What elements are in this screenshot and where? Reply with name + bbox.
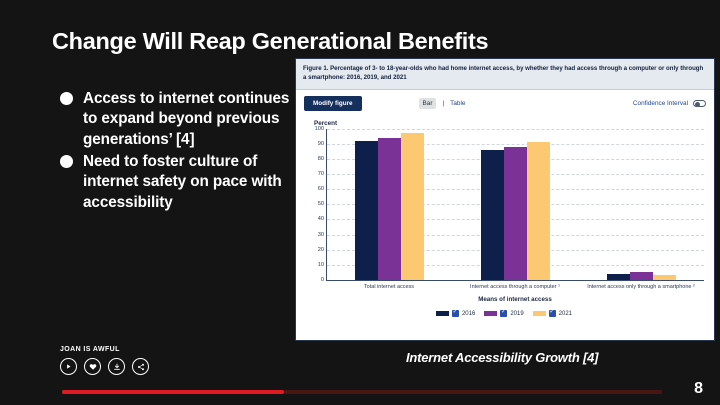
chart-bar[interactable] [401,133,424,279]
brand-name: JOAN IS AWFUL [60,346,149,353]
view-toggle: Bar | Table [419,98,466,109]
x-axis-label: Means of internet access [326,296,704,303]
bullet-dot-icon [60,155,73,168]
bar-groups [327,129,704,280]
y-axis-tick: 80 [318,156,324,162]
legend-label: 2021 [559,311,572,317]
chart-bar[interactable] [607,274,630,280]
list-item: Access to internet continues to expand b… [60,89,292,150]
y-axis-tick: 30 [318,232,324,238]
y-axis-tick: 100 [315,126,324,132]
chart-bar[interactable] [481,150,504,280]
y-axis-tick: 60 [318,186,324,192]
chart-bar[interactable] [653,275,676,280]
progress-bar-fill [62,390,284,394]
legend-item[interactable]: 2016 [436,310,475,317]
legend-label: 2019 [510,311,523,317]
plot-area: 1009080706050403020100 [326,129,704,281]
bullet-text: Access to internet continues to expand b… [83,89,292,150]
y-axis-tick: 90 [318,141,324,147]
bullet-dot-icon [60,92,73,105]
y-axis-tick: 20 [318,247,324,253]
toggle-switch-icon[interactable] [693,100,706,108]
y-axis-tick: 0 [321,277,324,283]
confidence-interval-label: Confidence Interval [633,100,688,107]
bar-group [453,129,579,280]
page-number: 8 [694,380,703,398]
share-icon[interactable] [132,358,149,375]
y-axis-label: Percent [314,120,704,127]
progress-bar-track[interactable] [62,390,662,394]
brand-block: JOAN IS AWFUL [60,346,149,375]
list-item: Need to foster culture of internet safet… [60,152,292,213]
y-axis-tick: 40 [318,216,324,222]
download-icon[interactable] [108,358,125,375]
legend-item[interactable]: 2019 [484,310,523,317]
y-axis-tick: 50 [318,201,324,207]
bullet-text: Need to foster culture of internet safet… [83,152,292,213]
view-separator: | [442,100,444,107]
x-axis-tick: Total internet access [326,284,452,291]
bar-group [327,129,453,280]
figure-toolbar: Modify figure Bar | Table Confidence Int… [296,90,714,116]
bar-group [578,129,704,280]
chart-bar[interactable] [630,272,653,280]
slide-root: Change Will Reap Generational Benefits A… [0,0,720,405]
tab-table-view[interactable]: Table [450,100,465,107]
legend-checkbox[interactable] [549,310,556,317]
chart-plot: Percent 1009080706050403020100 Total int… [296,116,714,317]
legend-swatch [484,311,497,316]
x-axis-tick-labels: Total internet accessInternet access thr… [326,284,704,291]
page-title: Change Will Reap Generational Benefits [52,28,488,55]
chart-legend: 201620192021 [304,310,704,317]
x-axis-tick: Internet access only through a smartphon… [578,284,704,291]
legend-checkbox[interactable] [452,310,459,317]
y-axis-tick: 70 [318,171,324,177]
figure-credit: Internet Accessibility Growth [4] [406,350,598,365]
bullet-list: Access to internet continues to expand b… [60,89,292,215]
heart-icon[interactable] [84,358,101,375]
x-axis-tick: Internet access through a computer ¹ [452,284,578,291]
embedded-figure-panel: Figure 1. Percentage of 3- to 18-year-ol… [295,58,715,341]
legend-checkbox[interactable] [500,310,507,317]
tab-bar-view[interactable]: Bar [419,98,437,109]
legend-swatch [533,311,546,316]
brand-icon-row [60,358,149,375]
chart-bar[interactable] [355,141,378,280]
legend-item[interactable]: 2021 [533,310,572,317]
chart-bar[interactable] [504,147,527,280]
y-axis-tick: 10 [318,262,324,268]
play-icon[interactable] [60,358,77,375]
figure-caption: Figure 1. Percentage of 3- to 18-year-ol… [296,59,714,90]
legend-label: 2016 [462,311,475,317]
chart-bar[interactable] [527,142,550,279]
confidence-interval-toggle[interactable]: Confidence Interval [633,100,706,108]
legend-swatch [436,311,449,316]
chart-bar[interactable] [378,138,401,280]
modify-figure-button[interactable]: Modify figure [304,96,362,111]
